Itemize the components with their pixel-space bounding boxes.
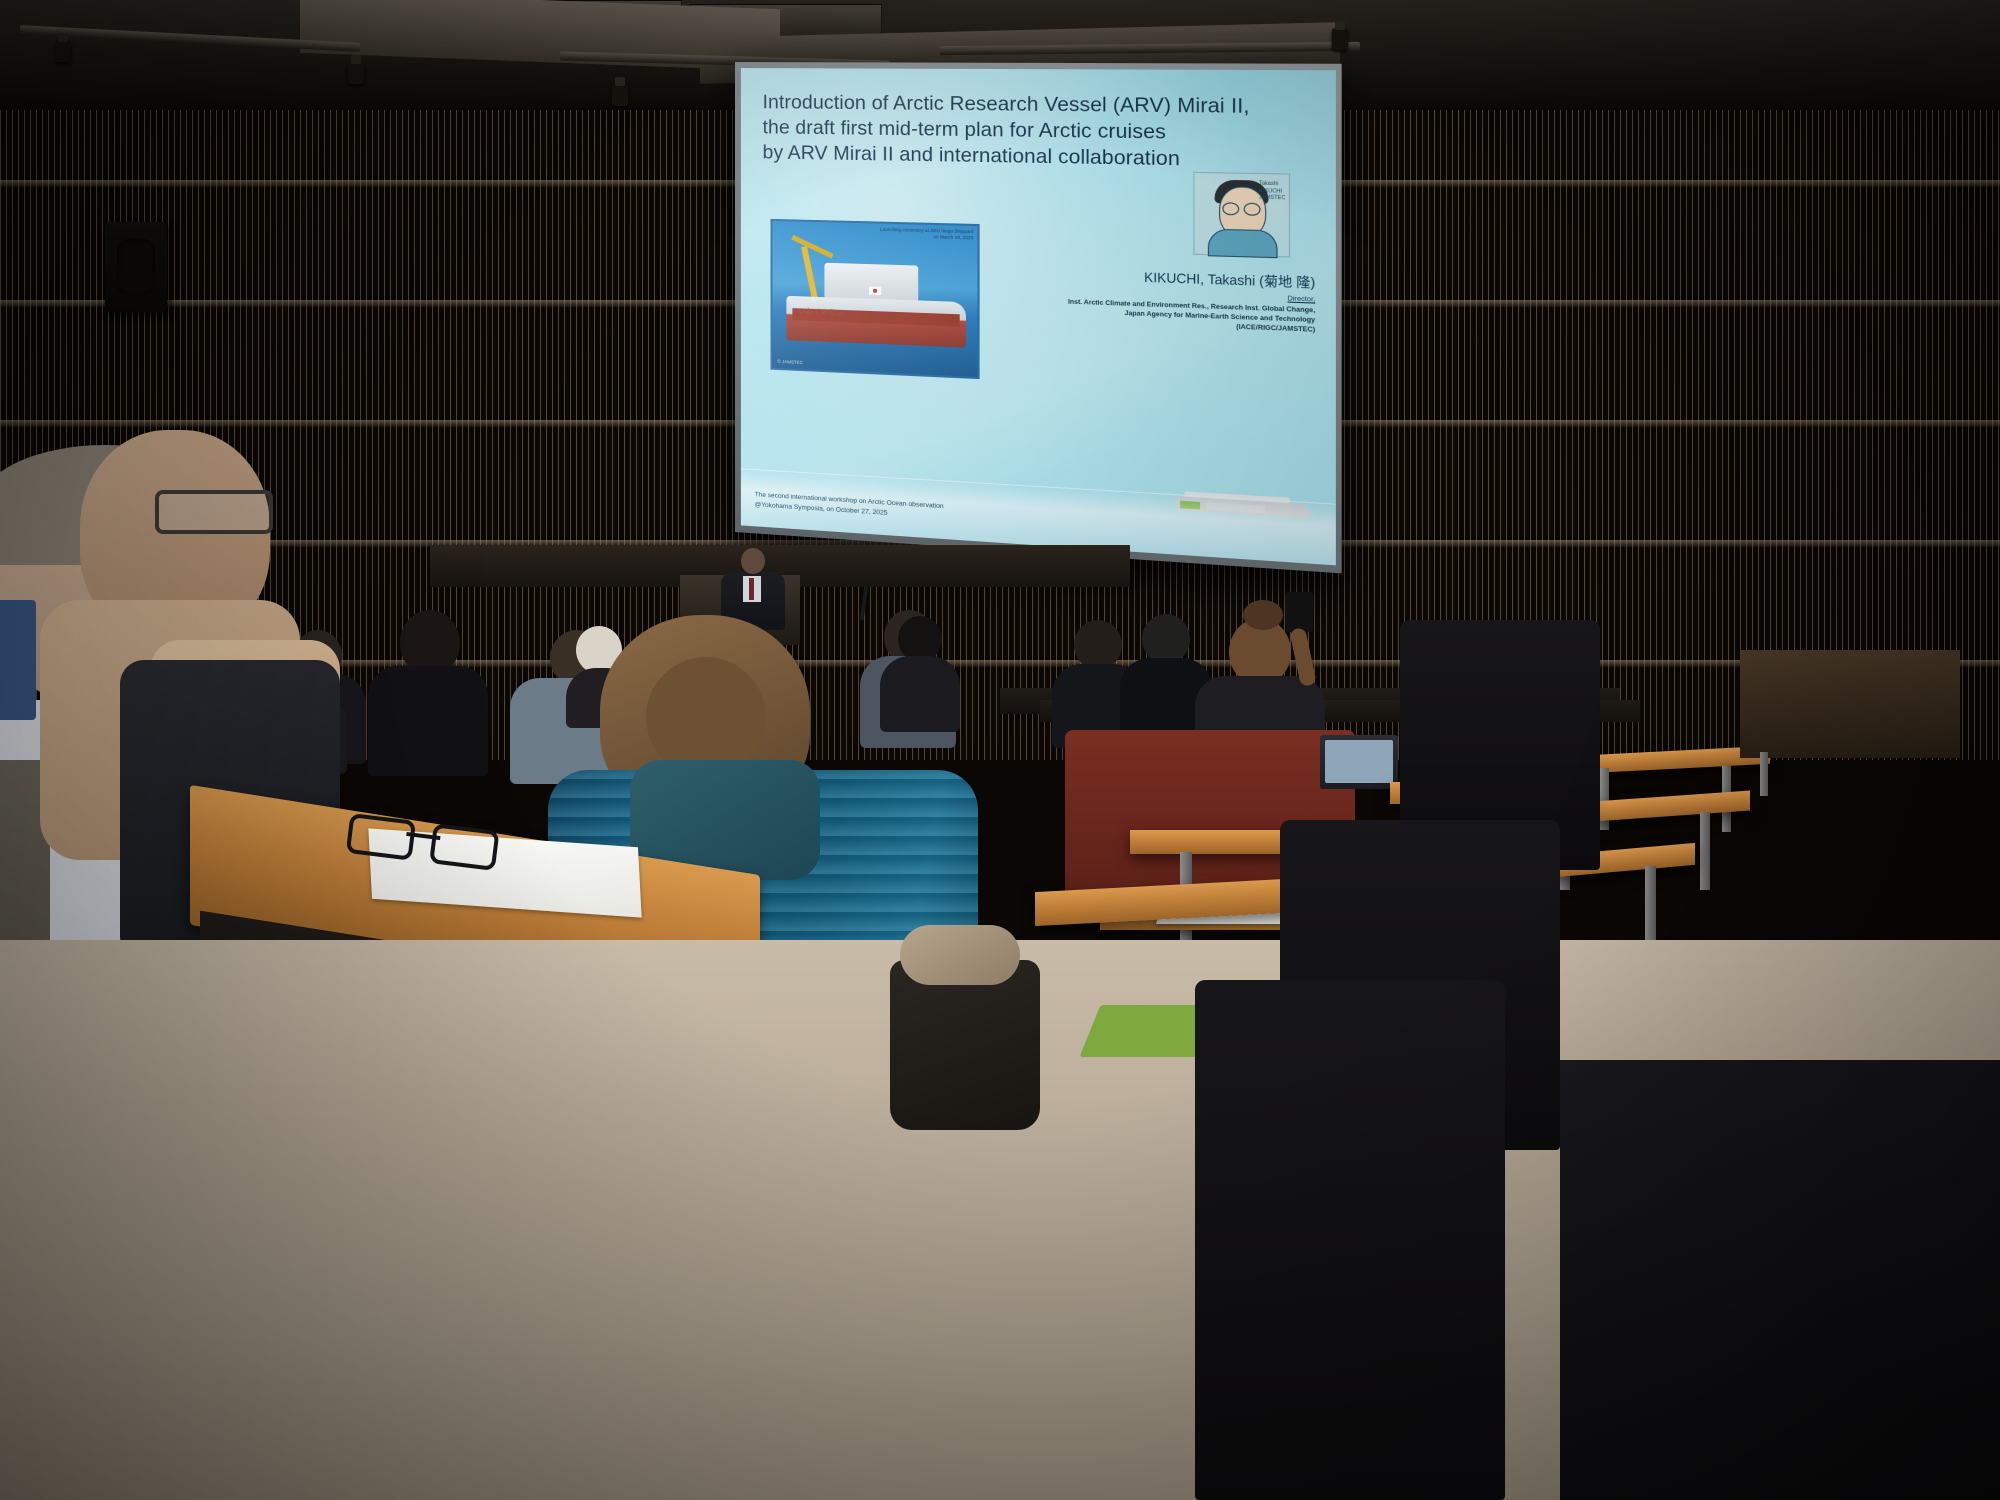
- hair-bun: [1243, 600, 1283, 630]
- jacket-on-floor: [900, 925, 1020, 985]
- presenter-head: [741, 548, 765, 574]
- ship-launch-photo: Launching ceremony at JMU Isogo Shipyard…: [771, 219, 980, 379]
- desk-leg: [1700, 812, 1710, 890]
- spotlight-icon: [55, 40, 71, 62]
- presenter-tie: [749, 578, 754, 600]
- spotlight-icon: [1332, 28, 1348, 50]
- lanyard: [0, 600, 36, 720]
- head: [1142, 614, 1190, 664]
- ship-superstructure: [824, 263, 918, 303]
- photo-watermark: © JAMSTEC: [777, 359, 802, 365]
- open-laptop: [1320, 735, 1398, 789]
- slide-title: Introduction of Arctic Research Vessel (…: [763, 90, 1318, 175]
- spotlight-icon: [348, 62, 364, 84]
- lens-left: [346, 813, 416, 861]
- spotlight-icon: [612, 84, 628, 106]
- audience-member: [880, 616, 960, 726]
- lens-right: [429, 823, 499, 871]
- author-block: KIKUCHI, Takashi (菊地 隆) Director, Inst. …: [980, 261, 1316, 335]
- wall-speaker: [105, 222, 167, 312]
- smartphone: [1285, 592, 1313, 632]
- table-leg: [1760, 752, 1768, 796]
- author-portrait: Takashi KIKUCHI JAMSTEC: [1193, 172, 1290, 258]
- portrait-signature: Takashi KIKUCHI JAMSTEC: [1259, 180, 1285, 201]
- audience-member: [368, 610, 488, 770]
- lecture-hall-photo: Introduction of Arctic Research Vessel (…: [0, 0, 2000, 1500]
- crane-arm: [791, 235, 833, 259]
- eyeglasses: [155, 490, 273, 534]
- chair: [1560, 1060, 2000, 1500]
- head: [1074, 620, 1122, 670]
- side-table: [1740, 650, 1960, 758]
- portrait-glasses-icon: [1222, 202, 1260, 214]
- chair: [1195, 980, 1505, 1500]
- ship-name-text: いわてみらい: [798, 306, 843, 318]
- torso: [880, 656, 960, 732]
- presentation-slide: Introduction of Arctic Research Vessel (…: [741, 68, 1336, 565]
- hair-volume: [646, 657, 766, 777]
- torso: [368, 666, 488, 776]
- crane-mast: [801, 246, 818, 299]
- projection-screen: Introduction of Arctic Research Vessel (…: [735, 62, 1342, 573]
- backpack-on-floor: [890, 960, 1040, 1130]
- portrait-body: [1208, 229, 1278, 259]
- photo-caption: Launching ceremony at JMU Isogo Shipyard…: [880, 227, 974, 242]
- flag-icon: [869, 286, 881, 295]
